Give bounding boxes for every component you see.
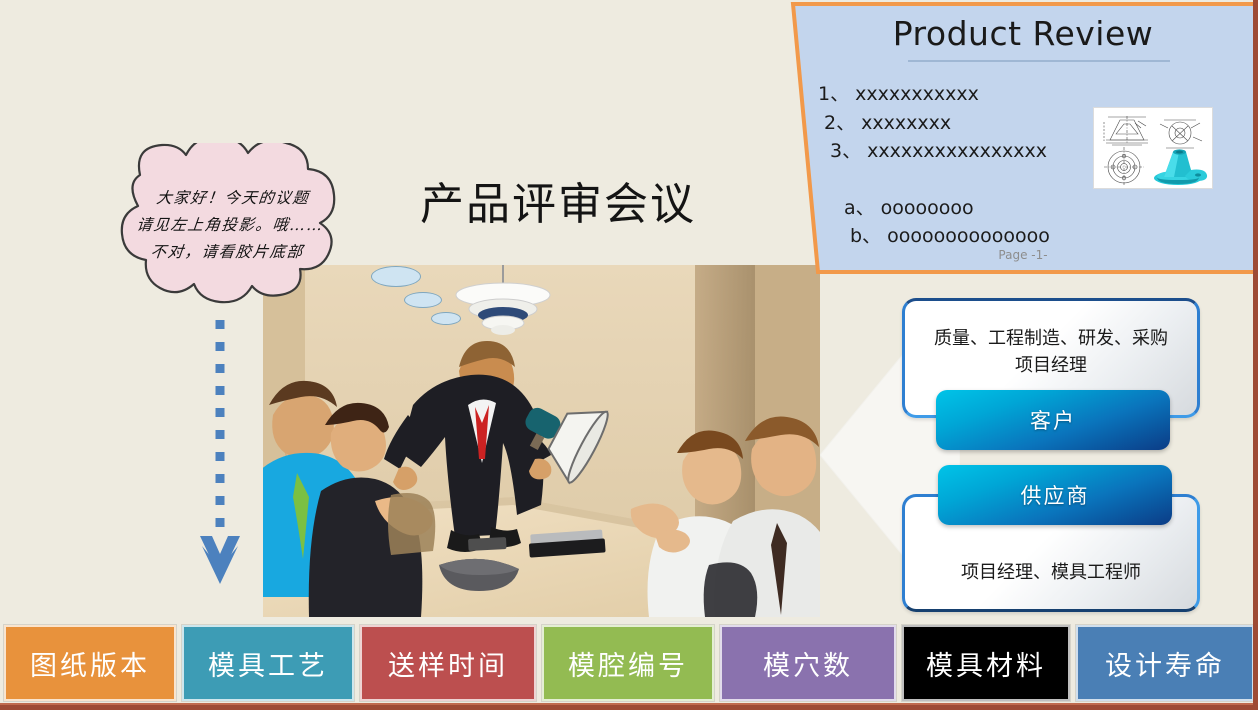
diagram-box-supplier-label: 供应商: [1021, 480, 1090, 510]
page-number-label: Page -1-: [788, 248, 1258, 262]
chip-mold-process[interactable]: 模具工艺: [182, 625, 354, 701]
stakeholder-diagram: 质量、工程制造、研发、采购 项目经理 项目经理、模具工程师 客户 供应商: [820, 290, 1220, 620]
chip-sample-time[interactable]: 送样时间: [360, 625, 536, 701]
chip-cavity-count[interactable]: 模穴数: [720, 625, 896, 701]
chip-mold-process-label: 模具工艺: [208, 644, 328, 683]
chip-design-life-label: 设计寿命: [1105, 644, 1225, 683]
diagram-box-customer[interactable]: 客户: [936, 390, 1170, 450]
chip-cavity-number[interactable]: 模腔编号: [542, 625, 714, 701]
chip-sample-time-label: 送样时间: [388, 644, 508, 683]
review-item-1: 1、 xxxxxxxxxxx: [818, 79, 979, 106]
chip-cavity-count-label: 模穴数: [763, 644, 853, 683]
frame-bottom: [0, 705, 1258, 710]
diagram-box-supplier[interactable]: 供应商: [938, 465, 1172, 525]
page-title: 产品评审会议: [388, 168, 728, 232]
chip-mold-material[interactable]: 模具材料: [902, 625, 1070, 701]
diagram-box-supplier-roles-label: 项目经理、模具工程师: [917, 559, 1185, 586]
frame-right: [1253, 0, 1258, 710]
thought-oval-medium: [404, 292, 442, 308]
chip-design-life[interactable]: 设计寿命: [1076, 625, 1254, 701]
internal-teams-line2: 项目经理: [917, 352, 1185, 379]
internal-teams-line1: 质量、工程制造、研发、采购: [917, 325, 1185, 352]
review-item-3: 3、 xxxxxxxxxxxxxxxx: [830, 136, 1047, 163]
bubble-line-2: 请见左上角投影。哦……: [93, 212, 368, 239]
dotted-down-arrow: [198, 320, 242, 590]
review-item-b: b、 oooooooooooooo: [850, 221, 1050, 248]
thought-bubble: 大家好！今天的议题 请见左上角投影。哦…… 不对，请看胶片底部: [80, 143, 380, 323]
diagram-box-customer-label: 客户: [1030, 405, 1076, 435]
engineering-drawing-thumbnail: [1093, 107, 1213, 189]
diagram-box-internal-teams-label: 质量、工程制造、研发、采购 项目经理: [917, 325, 1185, 379]
bubble-line-3: 不对，请看胶片底部: [90, 239, 365, 266]
product-review-title: Product Review: [788, 14, 1258, 53]
title-underline: [908, 60, 1170, 62]
chip-drawing-version[interactable]: 图纸版本: [4, 625, 176, 701]
thought-oval-small: [431, 312, 461, 325]
chip-drawing-version-label: 图纸版本: [30, 644, 150, 683]
slide-canvas: 大家好！今天的议题 请见左上角投影。哦…… 不对，请看胶片底部 产品评审会议 P…: [0, 0, 1258, 710]
bubble-line-1: 大家好！今天的议题: [95, 185, 370, 212]
chip-mold-material-label: 模具材料: [926, 644, 1046, 683]
chip-cavity-number-label: 模腔编号: [568, 644, 688, 683]
thought-bubble-text: 大家好！今天的议题 请见左上角投影。哦…… 不对，请看胶片底部: [90, 185, 371, 266]
review-item-a: a、 oooooooo: [844, 193, 974, 220]
review-item-2: 2、 xxxxxxxx: [824, 108, 951, 135]
bottom-attribute-strip: 图纸版本 模具工艺 送样时间 模腔编号 模穴数 模具材料 设计寿命: [0, 625, 1258, 703]
